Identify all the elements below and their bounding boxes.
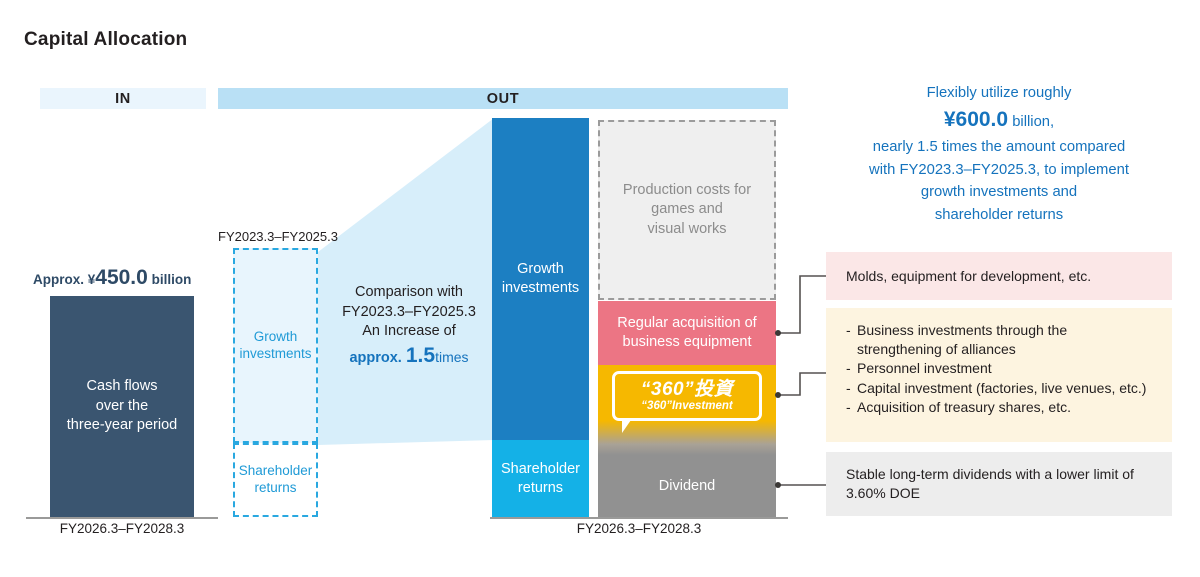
cash-flow-amount: Approx. ¥450.0 billion [33, 266, 191, 290]
page-title: Capital Allocation [24, 29, 187, 51]
dividend-label: Dividend [659, 478, 715, 494]
cash-amount-prefix: Approx. ¥ [33, 272, 95, 287]
comparison-line-3: An Increase of [326, 322, 492, 342]
note-molds-equipment: Molds, equipment for development, etc. [826, 252, 1172, 300]
regular-acquisition-label: Regular acquisition ofbusiness equipment [617, 314, 756, 352]
header-band-out: OUT [218, 88, 788, 109]
axis-line-out [490, 517, 788, 519]
cash-amount-value: 450.0 [95, 266, 148, 289]
axis-label-in: FY2026.3–FY2028.3 [26, 521, 218, 536]
list-item: Personnel investment [846, 359, 1152, 378]
cash-flow-bar: Cash flowsover thethree-year period [50, 296, 194, 517]
list-item: Capital investment (factories, live venu… [846, 379, 1152, 398]
cash-amount-unit: billion [152, 272, 192, 287]
headline-amount-unit: billion, [1012, 114, 1054, 130]
360-investment-jp-label: “360”投資 [641, 380, 733, 399]
headline-currency-symbol: ¥ [944, 108, 956, 131]
comparison-line-4: approx. 1.5times [326, 342, 492, 371]
cash-flow-bar-label: Cash flowsover thethree-year period [67, 377, 177, 436]
headline-line-2: ¥600.0 billion, [826, 104, 1172, 136]
production-costs-label: Production costs forgames andvisual work… [623, 181, 751, 240]
comparison-approx-label: approx. [349, 350, 401, 366]
out-growth-investments-segment: Growthinvestments [492, 118, 589, 440]
out-growth-label: Growthinvestments [502, 260, 579, 298]
note-360-list: Business investments through the strengt… [846, 321, 1152, 417]
note-360-investment-items: Business investments through the strengt… [826, 308, 1172, 442]
note-dividend-policy: Stable long-term dividends with a lower … [826, 452, 1172, 516]
regular-acquisition-segment: Regular acquisition ofbusiness equipment [598, 301, 776, 365]
comparison-multiple-value: 1.5 [406, 344, 435, 367]
headline-callout: Flexibly utilize roughly ¥600.0 billion,… [826, 82, 1172, 226]
reference-shareholder-returns-box: Shareholderreturns [233, 443, 318, 517]
dividend-segment: Dividend [598, 455, 776, 517]
reference-period-label: FY2023.3–FY2025.3 [218, 229, 338, 244]
360-investment-badge: “360”投資 “360”Investment [612, 371, 762, 421]
out-shareholder-returns-segment: Shareholderreturns [492, 440, 589, 517]
headline-line-4: with FY2023.3–FY2025.3, to implement [826, 159, 1172, 181]
list-item: Acquisition of treasury shares, etc. [846, 398, 1152, 417]
headline-amount-value: 600.0 [956, 108, 1009, 131]
connector-360-investment [778, 373, 826, 395]
header-in-label: IN [115, 91, 131, 107]
360-badge-tail [622, 420, 636, 433]
header-band-in: IN [40, 88, 206, 109]
reference-growth-label: Growthinvestments [239, 329, 311, 363]
list-item: Business investments through the strengt… [846, 321, 1152, 358]
comparison-callout: Comparison with FY2023.3–FY2025.3 An Inc… [326, 283, 492, 371]
headline-line-3: nearly 1.5 times the amount compared [826, 136, 1172, 158]
headline-line-1: Flexibly utilize roughly [826, 82, 1172, 104]
comparison-line-2: FY2023.3–FY2025.3 [326, 303, 492, 323]
headline-line-5: growth investments and [826, 181, 1172, 203]
360-investment-en-label: “360”Investment [641, 401, 732, 413]
out-returns-label: Shareholderreturns [501, 460, 580, 498]
reference-growth-investments-box: Growthinvestments [233, 248, 318, 443]
comparison-line-1: Comparison with [326, 283, 492, 303]
axis-label-out: FY2026.3–FY2028.3 [490, 521, 788, 536]
reference-returns-label: Shareholderreturns [239, 463, 313, 497]
comparison-times-label: times [435, 349, 468, 365]
note-molds-text: Molds, equipment for development, etc. [846, 267, 1091, 286]
connector-molds [778, 276, 826, 333]
production-costs-segment: Production costs forgames andvisual work… [598, 120, 776, 300]
axis-line-in [26, 517, 218, 519]
headline-line-6: shareholder returns [826, 204, 1172, 226]
note-dividend-text: Stable long-term dividends with a lower … [846, 465, 1152, 502]
header-out-label: OUT [487, 91, 519, 107]
